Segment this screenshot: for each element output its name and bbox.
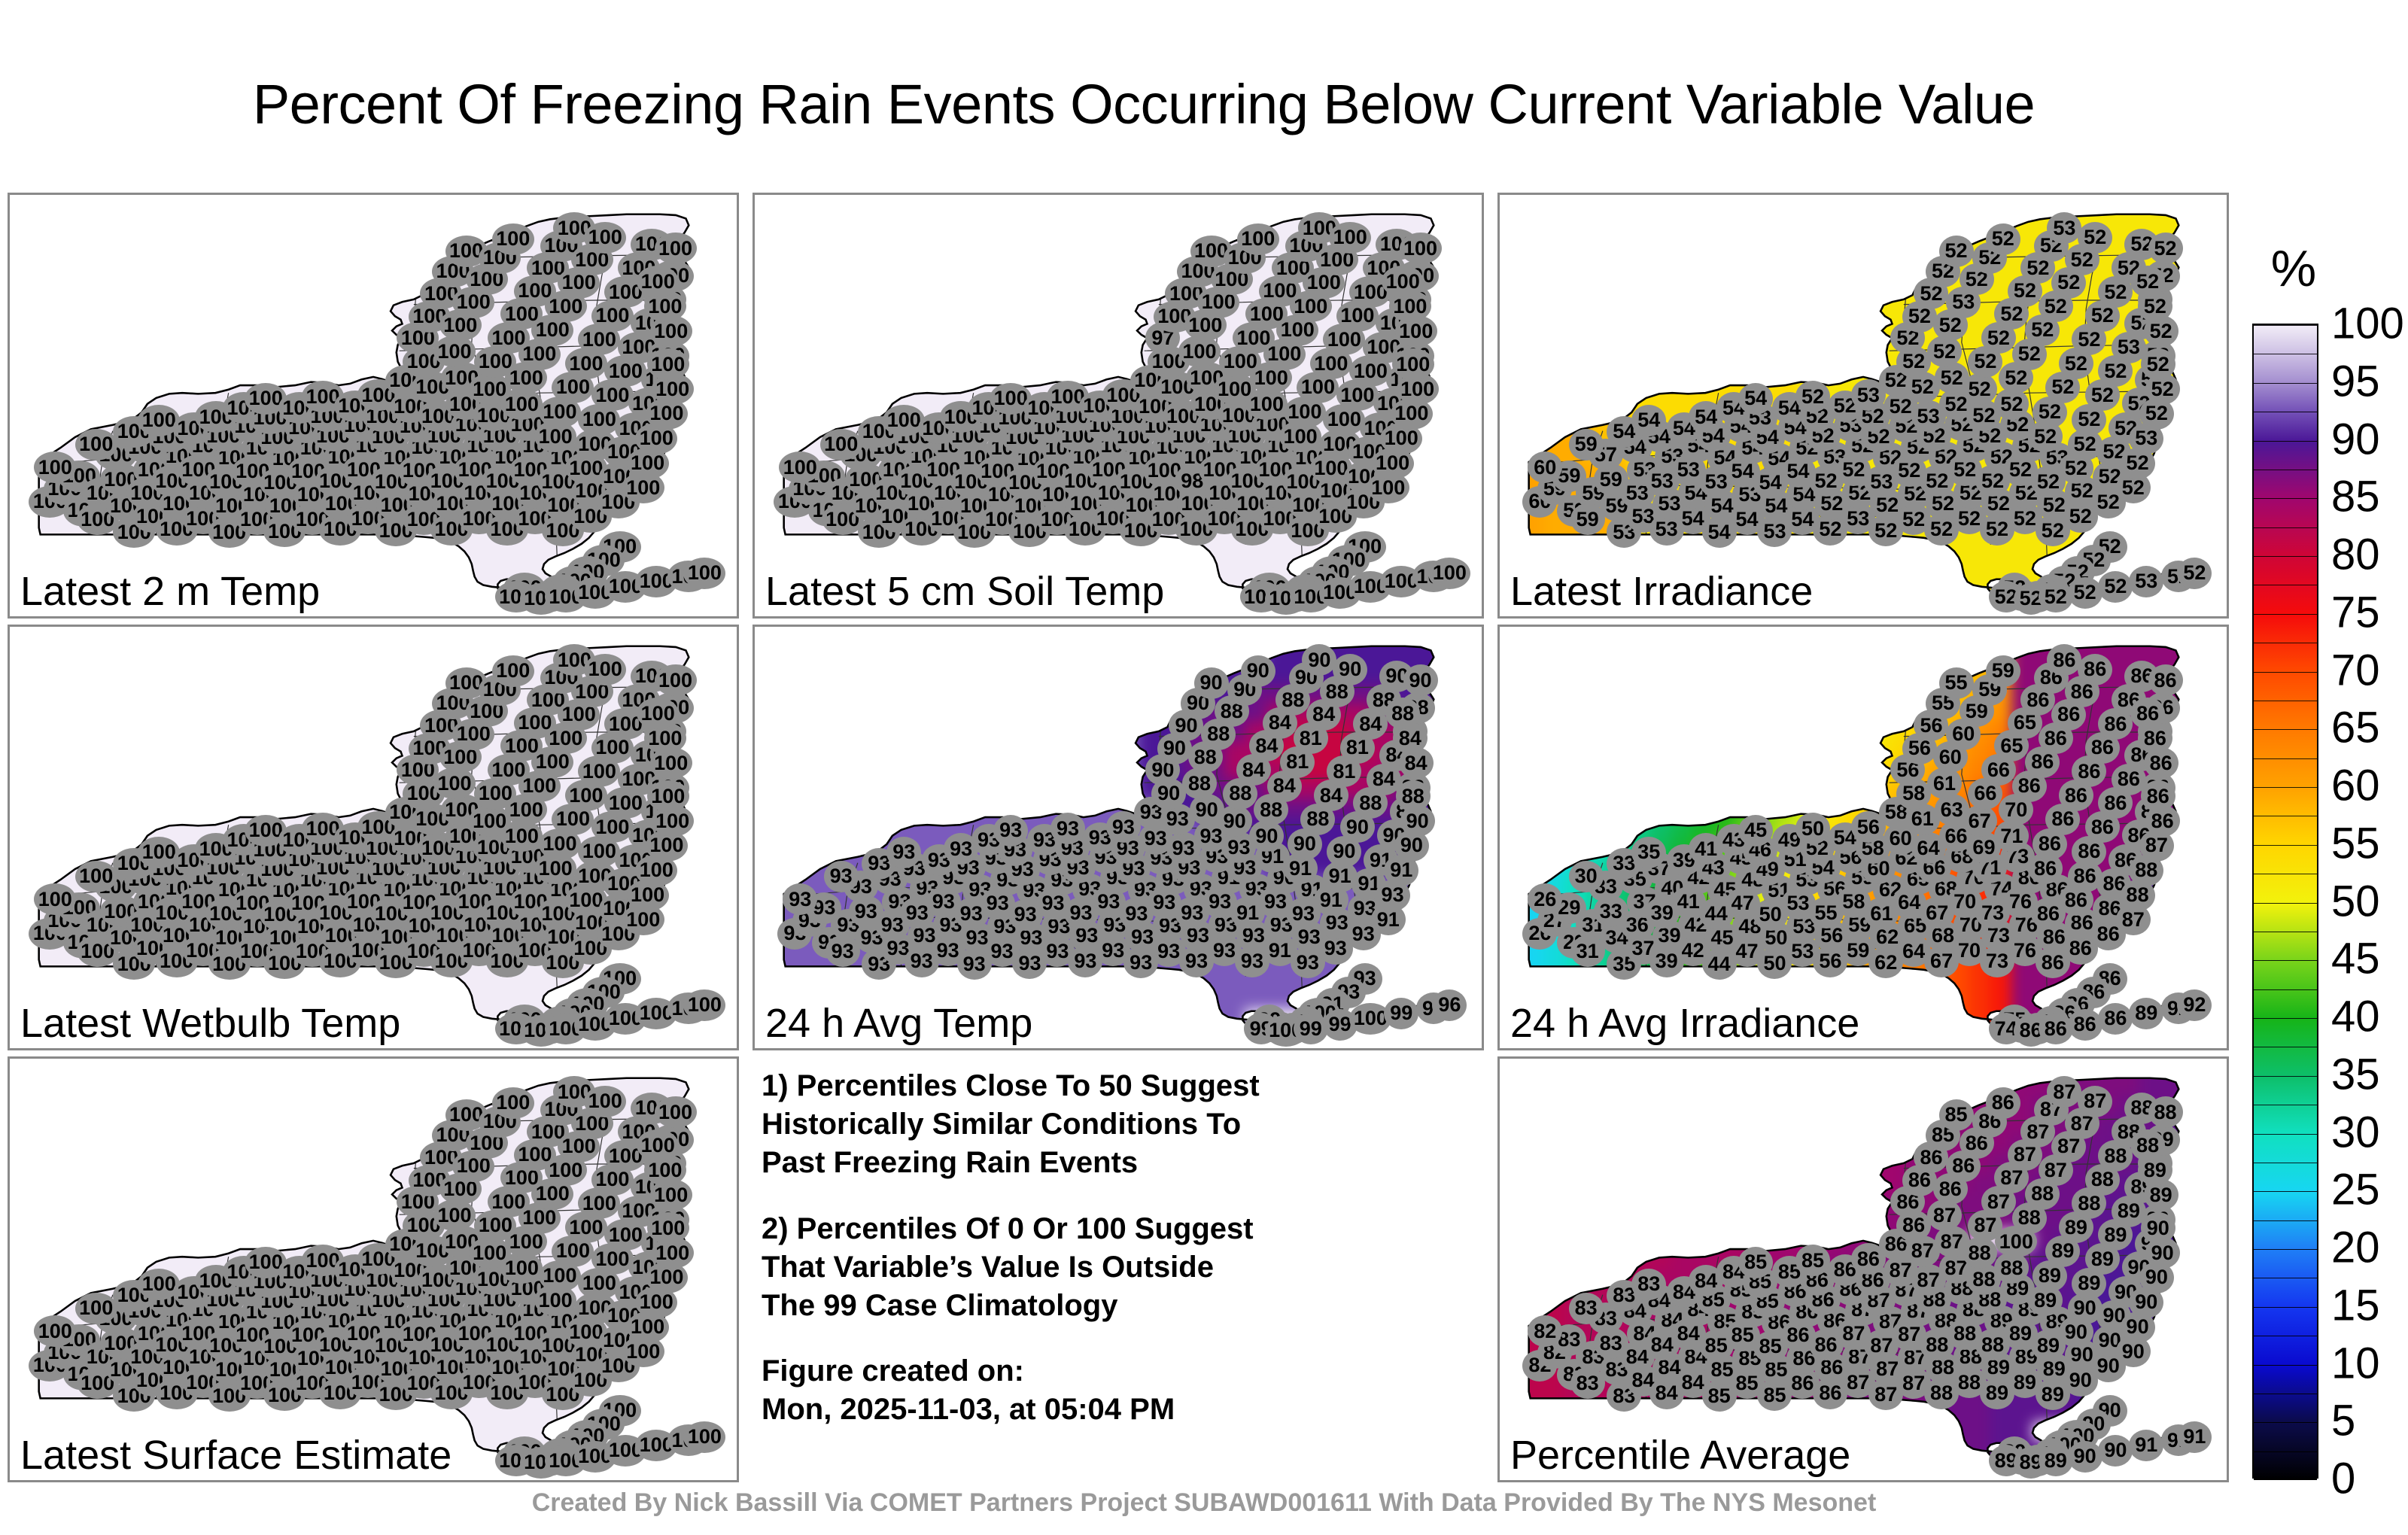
station-marker: 85 (1939, 1099, 1974, 1131)
station-marker: 52 (2098, 571, 2133, 603)
panel-latest-2m-temp[interactable]: 1001001001001001001001001001001001001001… (8, 193, 739, 619)
note-2: 2) Percentiles Of 0 Or 100 Suggest That … (762, 1210, 1469, 1326)
colorbar-tick-25: 25 (2331, 1165, 2380, 1215)
station-marker: 90 (2098, 1435, 2133, 1467)
station-marker: 100 (647, 1212, 689, 1244)
colorbar-segment (2254, 1076, 2317, 1105)
colorbar-tick-100: 100 (2331, 299, 2404, 349)
station-marker: 100 (492, 1087, 534, 1119)
station-marker: 53 (2129, 566, 2163, 597)
colorbar-segment (2254, 1163, 2317, 1191)
station-marker: 100 (637, 698, 679, 729)
station-marker: 91 (2177, 1421, 2212, 1453)
colorbar-segment (2254, 1278, 2317, 1306)
station-marker: 100 (584, 1086, 626, 1117)
panel-label-latest-2m-temp: Latest 2 m Temp (20, 571, 320, 612)
colorbar-tick-60: 60 (2331, 761, 2380, 811)
map-canvas-percentile-average: 8282838382838383838383838484848483848484… (1500, 1059, 2227, 1480)
station-marker: 90 (2141, 1212, 2175, 1244)
colorbar-segment (2254, 354, 2317, 382)
station-marker: 82 (1528, 1315, 1562, 1347)
station-marker: 52 (1986, 223, 2020, 255)
station-marker: 52 (1927, 336, 1962, 367)
station-marker: 60 (1528, 451, 1562, 483)
panel-label-latest-surface-estimate: Latest Surface Estimate (20, 1435, 451, 1476)
station-marker: 87 (2078, 1086, 2112, 1117)
colorbar-tick-10: 10 (2331, 1338, 2380, 1388)
station-marker: 100 (34, 1315, 76, 1347)
colorbar-tick-0: 0 (2331, 1454, 2355, 1504)
station-marker: 100 (433, 767, 476, 799)
station-marker: 100 (655, 1096, 697, 1128)
figure-timestamp: Figure created on: Mon, 2025-11-03, at 0… (762, 1352, 1469, 1429)
station-marker: 100 (1400, 233, 1442, 264)
colorbar-segment (2254, 758, 2317, 787)
station-marker: 52 (1963, 373, 1997, 405)
station-marker: 85 (1795, 1245, 1830, 1276)
station-marker: 100 (1382, 266, 1424, 297)
colorbar-gradient (2252, 324, 2318, 1479)
colorbar-segment (2254, 1134, 2317, 1163)
note-1: 1) Percentiles Close To 50 Suggest Histo… (762, 1067, 1469, 1183)
colorbar-segment (2254, 1451, 2317, 1480)
station-marker: 100 (584, 654, 626, 685)
colorbar-segment (2254, 1018, 2317, 1047)
colorbar-segment (2254, 1249, 2317, 1278)
panel-latest-surface-estimate[interactable]: 1001001001001001001001001001001001001001… (8, 1056, 739, 1482)
colorbar-segment (2254, 1220, 2317, 1249)
colorbar-segment (2254, 845, 2317, 874)
colorbar-segment (2254, 816, 2317, 844)
station-marker: 100 (584, 222, 626, 254)
station-marker: 99 (1384, 998, 1418, 1029)
colorbar-tick-5: 5 (2331, 1396, 2355, 1446)
station-marker: 52 (2130, 266, 2165, 297)
colorbar-tick-95: 95 (2331, 356, 2380, 406)
panel-percentile-average[interactable]: 8282838382838383838383838484848483848484… (1497, 1056, 2229, 1482)
station-marker: 90 (1241, 655, 1275, 687)
colorbar-tick-50: 50 (2331, 876, 2380, 926)
station-marker: 100 (492, 223, 534, 255)
station-marker: 100 (433, 1199, 476, 1231)
colorbar-tick-40: 40 (2331, 992, 2380, 1042)
map-canvas-latest-5cm-soil-temp: 1001001001001001001001001001001001001001… (755, 195, 1482, 616)
colorbar-tick-90: 90 (2331, 414, 2380, 464)
station-marker: 90 (2068, 1441, 2102, 1473)
station-marker: 45 (1738, 815, 1773, 847)
station-marker: 88 (2148, 1096, 2183, 1128)
panel-label-24h-avg-temp: 24 h Avg Temp (765, 1003, 1032, 1044)
station-marker: 90 (1302, 644, 1336, 676)
colorbar-tick-65: 65 (2331, 703, 2380, 753)
panel-24h-avg-irradiance[interactable]: 2627292926313134333330353736373533393939… (1497, 625, 2229, 1050)
colorbar-segment (2254, 1307, 2317, 1336)
note-2-line-1: 2) Percentiles Of 0 Or 100 Suggest (762, 1210, 1469, 1248)
station-marker: 26 (1528, 883, 1562, 915)
note-1-line-3: Past Freezing Rain Events (762, 1144, 1469, 1182)
station-marker: 93 (993, 815, 1028, 847)
colorbar-segment (2254, 989, 2317, 1018)
station-marker: 100 (1237, 223, 1279, 255)
station-marker: 100 (34, 883, 76, 915)
colorbar-segment (2254, 585, 2317, 613)
station-marker: 83 (1631, 1269, 1666, 1300)
colorbar-tick-35: 35 (2331, 1049, 2380, 1099)
map-canvas-latest-irradiance: 6059595960595959595759535353535454535353… (1500, 195, 2227, 616)
colorbar-segment (2254, 729, 2317, 758)
station-marker: 100 (492, 655, 534, 687)
panel-label-latest-5cm-soil-temp: Latest 5 cm Soil Temp (765, 571, 1164, 612)
station-marker: 93 (1050, 813, 1085, 844)
station-marker: 90 (1194, 667, 1229, 699)
station-marker: 100 (655, 233, 697, 264)
colorbar-tick-55: 55 (2331, 818, 2380, 868)
panel-label-24h-avg-irradiance: 24 h Avg Irradiance (1510, 1003, 1859, 1044)
station-marker: 100 (820, 429, 862, 460)
station-marker: 54 (1738, 383, 1773, 415)
station-marker: 61 (1927, 767, 1962, 799)
station-marker: 88 (2130, 1129, 2165, 1161)
figure-created-label: Figure created on: (762, 1352, 1469, 1391)
panel-latest-5cm-soil-temp[interactable]: 1001001001001001001001001001001001001001… (752, 193, 1484, 619)
station-marker: 83 (1569, 1293, 1604, 1324)
map-canvas-latest-wetbulb-temp: 1001001001001001001001001001001001001001… (10, 627, 737, 1048)
station-marker: 86 (2098, 1003, 2133, 1035)
station-marker: 91 (2129, 1430, 2163, 1461)
colorbar-segment (2254, 932, 2317, 960)
colorbar-segment (2254, 441, 2317, 470)
colorbar-segment (2254, 325, 2317, 354)
station-marker: 50 (1795, 813, 1830, 844)
colorbar-segment (2254, 1422, 2317, 1451)
station-marker: 100 (433, 336, 476, 367)
colorbar-segment (2254, 1365, 2317, 1394)
colorbar-tick-30: 30 (2331, 1107, 2380, 1157)
colorbar-segment (2254, 1394, 2317, 1422)
station-marker: 100 (779, 451, 821, 483)
colorbar-segment (2254, 1047, 2317, 1075)
station-marker: 100 (647, 780, 689, 812)
station-marker: 89 (2129, 998, 2163, 1029)
station-marker: 88 (1963, 1237, 1997, 1269)
station-marker: 86 (1986, 1087, 2020, 1119)
station-marker: 88 (1182, 767, 1217, 799)
station-marker: 87 (1927, 1199, 1962, 1231)
station-marker: 100 (683, 989, 725, 1021)
station-marker: 100 (1178, 336, 1221, 367)
colorbar-segment (2254, 903, 2317, 932)
colorbar-tick-75: 75 (2331, 587, 2380, 637)
colorbar-segment (2254, 960, 2317, 989)
colorbar-tick-45: 45 (2331, 934, 2380, 984)
station-marker: 86 (2148, 664, 2183, 696)
note-1-line-1: 1) Percentiles Close To 50 Suggest (762, 1067, 1469, 1105)
colorbar-segment (2254, 614, 2317, 643)
station-marker: 90 (1403, 664, 1438, 696)
page-title: Percent Of Freezing Rain Events Occurrin… (0, 72, 2288, 136)
station-marker: 87 (2047, 1076, 2081, 1108)
colorbar-segment (2254, 1336, 2317, 1364)
station-marker: 52 (1795, 381, 1830, 412)
colorbar-segment (2254, 701, 2317, 729)
station-marker: 85 (1738, 1247, 1773, 1278)
station-marker: 88 (1385, 698, 1420, 729)
station-marker: 67 (1963, 805, 1997, 837)
colorbar-segment (2254, 672, 2317, 701)
station-marker: 90 (1333, 654, 1367, 685)
station-marker: 52 (2068, 577, 2102, 609)
colorbar-tick-15: 15 (2331, 1280, 2380, 1330)
station-marker: 86 (2047, 644, 2081, 676)
station-marker: 52 (2148, 233, 2183, 264)
station-marker: 54 (1631, 405, 1666, 436)
panel-label-latest-irradiance: Latest Irradiance (1510, 571, 1813, 612)
map-canvas-24h-avg-temp: 9393939393939393939393939393939393939393… (755, 627, 1482, 1048)
station-marker: 93 (783, 883, 817, 915)
station-marker: 100 (34, 451, 76, 483)
map-canvas-latest-2m-temp: 1001001001001001001001001001001001001001… (10, 195, 737, 616)
panel-latest-irradiance[interactable]: 6059595960595959595759535353535454535353… (1497, 193, 2229, 619)
station-marker: 100 (1329, 222, 1371, 254)
station-marker: 100 (75, 1293, 117, 1324)
station-marker: 52 (2078, 222, 2112, 254)
station-marker: 59 (1986, 655, 2020, 687)
station-marker: 93 (824, 861, 859, 892)
colorbar-segment (2254, 383, 2317, 412)
station-marker: 92 (2177, 989, 2212, 1021)
colorbar-tick-85: 85 (2331, 472, 2380, 522)
colorbar[interactable] (2252, 324, 2318, 1479)
colorbar-segment (2254, 527, 2317, 556)
station-marker: 30 (1569, 861, 1604, 892)
note-1-line-2: Historically Similar Conditions To (762, 1105, 1469, 1144)
station-marker: 100 (683, 558, 725, 589)
panel-label-percentile-average: Percentile Average (1510, 1435, 1850, 1476)
station-marker: 52 (2141, 348, 2175, 380)
panel-24h-avg-temp[interactable]: 9393939393939393939393939393939393939393… (752, 625, 1484, 1050)
station-marker: 86 (2068, 1009, 2102, 1041)
colorbar-segment (2254, 787, 2317, 816)
colorbar-segment (2254, 1191, 2317, 1220)
explanatory-notes: 1) Percentiles Close To 50 Suggest Histo… (762, 1067, 1469, 1430)
station-marker: 90 (1218, 805, 1252, 837)
colorbar-tick-80: 80 (2331, 530, 2380, 580)
colorbar-segment (2254, 412, 2317, 440)
station-marker: 55 (1939, 667, 1974, 699)
station-marker: 100 (655, 664, 697, 696)
colorbar-segment (2254, 498, 2317, 527)
panel-latest-wetbulb-temp[interactable]: 1001001001001001001001001001001001001001… (8, 625, 739, 1050)
station-marker: 88 (1396, 780, 1431, 812)
station-marker: 53 (2047, 212, 2081, 244)
figure-canvas: Percent Of Freezing Rain Events Occurrin… (0, 0, 2408, 1535)
station-marker: 100 (637, 266, 679, 297)
colorbar-segment (2254, 470, 2317, 498)
station-marker: 59 (1569, 429, 1604, 460)
station-marker: 100 (637, 1129, 679, 1161)
station-marker: 35 (1631, 837, 1666, 868)
colorbar-unit-label: % (2248, 239, 2339, 298)
note-2-line-2: That Variable’s Value Is Outside (762, 1248, 1469, 1287)
station-marker: 86 (2078, 654, 2112, 685)
station-marker: 96 (1432, 989, 1467, 1021)
colorbar-tick-20: 20 (2331, 1223, 2380, 1273)
station-marker: 52 (2177, 558, 2212, 589)
colorbar-tick-70: 70 (2331, 645, 2380, 695)
colorbar-segment (2254, 874, 2317, 902)
map-canvas-24h-avg-irradiance: 2627292926313134333330353736373533393939… (1500, 627, 2227, 1048)
credit-footer: Created By Nick Bassill Via COMET Partne… (0, 1488, 2408, 1518)
station-marker: 93 (886, 837, 921, 868)
station-marker: 100 (75, 429, 117, 460)
station-marker: 100 (75, 861, 117, 892)
station-marker: 100 (647, 348, 689, 380)
station-marker: 86 (2141, 780, 2175, 812)
colorbar-segment (2254, 1105, 2317, 1133)
panel-label-latest-wetbulb-temp: Latest Wetbulb Temp (20, 1003, 400, 1044)
station-marker: 100 (1428, 558, 1470, 589)
station-marker: 100 (683, 1421, 725, 1453)
colorbar-segment (2254, 643, 2317, 671)
figure-created-datetime: Mon, 2025-11-03, at 05:04 PM (762, 1391, 1469, 1429)
note-2-line-3: The 99 Case Climatology (762, 1287, 1469, 1325)
station-marker: 86 (2130, 698, 2165, 729)
station-marker: 52 (1939, 236, 1974, 267)
map-canvas-latest-surface-estimate: 1001001001001001001001001001001001001001… (10, 1059, 737, 1480)
station-marker: 100 (1392, 348, 1434, 380)
colorbar-segment (2254, 556, 2317, 585)
